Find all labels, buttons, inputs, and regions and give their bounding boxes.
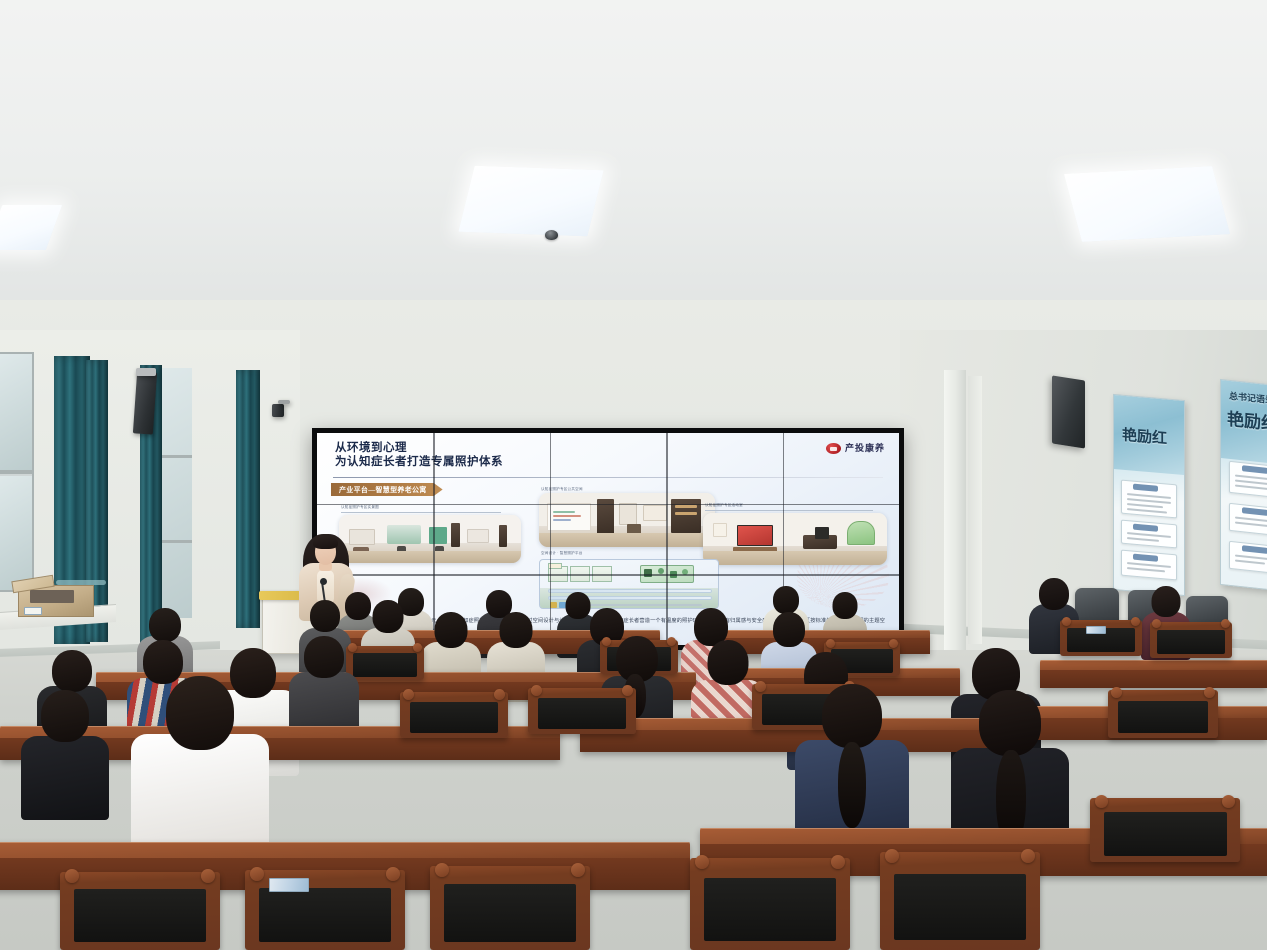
person-head — [773, 586, 799, 614]
lecture-chair — [880, 852, 1040, 950]
slide-title-rule — [333, 477, 883, 478]
box-label — [24, 607, 42, 615]
chair-cushion — [538, 698, 627, 729]
ceiling-light-panel — [458, 166, 603, 236]
poster-text-card — [1229, 503, 1267, 537]
render-caption: 空间设计 · 智慧照护平台 — [541, 551, 583, 556]
person-head — [833, 592, 858, 619]
chair-finial — [1062, 617, 1071, 626]
person-head — [500, 612, 533, 648]
render-image — [539, 493, 715, 547]
audience-member — [20, 690, 110, 814]
poster-text-card — [1121, 550, 1177, 581]
lecture-chair — [1060, 620, 1142, 656]
lecture-chair — [1090, 798, 1240, 862]
chair-finial — [622, 685, 633, 696]
person-head — [166, 676, 234, 750]
render-caption: 认知症照护专区实景图 — [341, 505, 379, 510]
caption-rule — [341, 512, 501, 513]
wall-speaker — [272, 404, 284, 417]
render-floor — [703, 551, 887, 565]
chair-finial — [571, 863, 585, 877]
person-torso — [21, 736, 109, 820]
chair-cushion — [894, 874, 1025, 941]
chair-finial — [1221, 619, 1230, 628]
window-glass — [0, 354, 32, 472]
interior-render-center — [539, 493, 715, 547]
person-head — [373, 600, 404, 633]
chair-finial — [695, 855, 709, 869]
card-tab — [1242, 507, 1267, 516]
person-head — [1152, 586, 1181, 617]
lecture-chair — [400, 692, 508, 738]
person-head — [435, 612, 468, 648]
chair-finial — [250, 867, 264, 881]
window-curtain — [236, 370, 260, 628]
window-mullion — [0, 470, 34, 474]
wall-speaker — [1052, 375, 1085, 448]
smoke-detector-icon — [545, 230, 558, 240]
wall-poster: 艳励红 — [1113, 394, 1185, 596]
person-ponytail — [838, 742, 866, 828]
person-head — [1039, 578, 1069, 610]
logo-mark-icon — [826, 443, 841, 454]
chair-finial — [531, 685, 542, 696]
lecture-desk — [1040, 660, 1267, 688]
brand-logo: 产投康养 — [826, 443, 885, 454]
card-tab — [1133, 484, 1158, 492]
desk-front — [1040, 670, 1267, 688]
chair-finial — [1222, 795, 1235, 808]
audience-member — [794, 684, 910, 844]
render-caption: 认知症照护专区活动室 — [705, 503, 743, 508]
person-head — [773, 612, 805, 647]
chair-finial — [494, 689, 505, 700]
person-head — [304, 636, 344, 678]
chair-cushion — [1157, 630, 1224, 655]
chair-finial — [885, 849, 899, 863]
chair-finial — [403, 689, 414, 700]
interior-render-right — [703, 513, 887, 565]
lecture-chair — [60, 872, 220, 950]
lecture-room-photo: 艳励红 总书记语录 艳励红 — [0, 0, 1267, 950]
window-glass — [0, 476, 32, 590]
chair-finial — [831, 855, 845, 869]
render-image — [339, 515, 521, 563]
lecture-chair — [1108, 690, 1218, 738]
caption-rule — [705, 510, 873, 511]
ceiling-light-panel — [0, 205, 62, 250]
poster-text-card — [1121, 520, 1177, 549]
speaker-bracket — [136, 368, 156, 376]
person-head — [52, 650, 92, 692]
render-floor — [339, 551, 521, 563]
lecture-chair — [245, 870, 405, 950]
person-head — [41, 690, 89, 742]
chair-cushion — [1118, 701, 1208, 734]
render-caption: 认知症照护专区公共空间 — [541, 487, 583, 492]
poster-text-card — [1229, 461, 1267, 499]
audience-member — [130, 676, 270, 866]
poster-text-card — [1121, 480, 1177, 519]
chair-finial — [1204, 687, 1215, 698]
microphone-icon — [320, 578, 327, 585]
speaker-bracket — [278, 400, 290, 404]
lecture-chair — [528, 688, 636, 734]
render-image — [703, 513, 887, 565]
chair-cushion — [444, 884, 575, 941]
wall-column — [944, 370, 966, 650]
person-head — [310, 600, 340, 632]
chair-cushion — [410, 702, 499, 733]
card-tab — [1133, 554, 1158, 562]
chair-finial — [1152, 619, 1161, 628]
logo-text: 产投康养 — [845, 444, 885, 453]
desk-surface — [1040, 660, 1267, 670]
card-tab — [1242, 545, 1267, 554]
chair-finial — [435, 863, 449, 877]
lecture-chair — [430, 866, 590, 950]
chair-cushion — [353, 653, 417, 676]
person-head — [979, 690, 1041, 756]
chair-finial — [1131, 617, 1140, 626]
person-head — [149, 608, 181, 642]
chair-cushion — [74, 889, 205, 942]
slide-title: 从环境到心理 为认知症长者打造专属照护体系 — [335, 442, 503, 469]
chair-finial — [201, 869, 215, 883]
card-tab — [1242, 465, 1267, 474]
chair-finial — [889, 639, 898, 648]
chair-finial — [826, 639, 835, 648]
lecture-chair — [690, 858, 850, 950]
chair-finial — [1021, 849, 1035, 863]
box-contents — [30, 590, 74, 603]
poster-headline: 艳励红 — [1122, 424, 1167, 449]
chair-cushion — [1104, 812, 1227, 856]
chair-finial — [1111, 687, 1122, 698]
wall-poster: 总书记语录 艳励红 — [1220, 379, 1267, 593]
chair-finial — [386, 867, 400, 881]
slide-section-tag: 产业平台—智慧型养老公寓 — [331, 483, 443, 496]
ceiling-light-panel — [1064, 166, 1230, 242]
chair-asset-tag — [269, 878, 309, 892]
poster-text-card — [1229, 541, 1267, 575]
desk-surface — [0, 842, 690, 858]
wall-column — [968, 376, 982, 644]
person-head — [822, 684, 882, 748]
interior-render-left — [339, 515, 521, 563]
presenter-fringe — [313, 536, 338, 549]
desk-front — [580, 730, 1000, 752]
chair-finial — [1095, 795, 1108, 808]
render-floor — [539, 533, 715, 547]
chair-finial — [755, 681, 766, 692]
chair-cushion — [704, 878, 835, 941]
card-tab — [1133, 524, 1158, 532]
lecture-chair — [1150, 622, 1232, 658]
audience-member — [288, 636, 360, 732]
chair-cushion — [259, 888, 390, 942]
chair-asset-tag — [1086, 626, 1106, 634]
chair-finial — [65, 869, 79, 883]
person-head — [708, 640, 749, 685]
chair-finial — [413, 643, 422, 652]
